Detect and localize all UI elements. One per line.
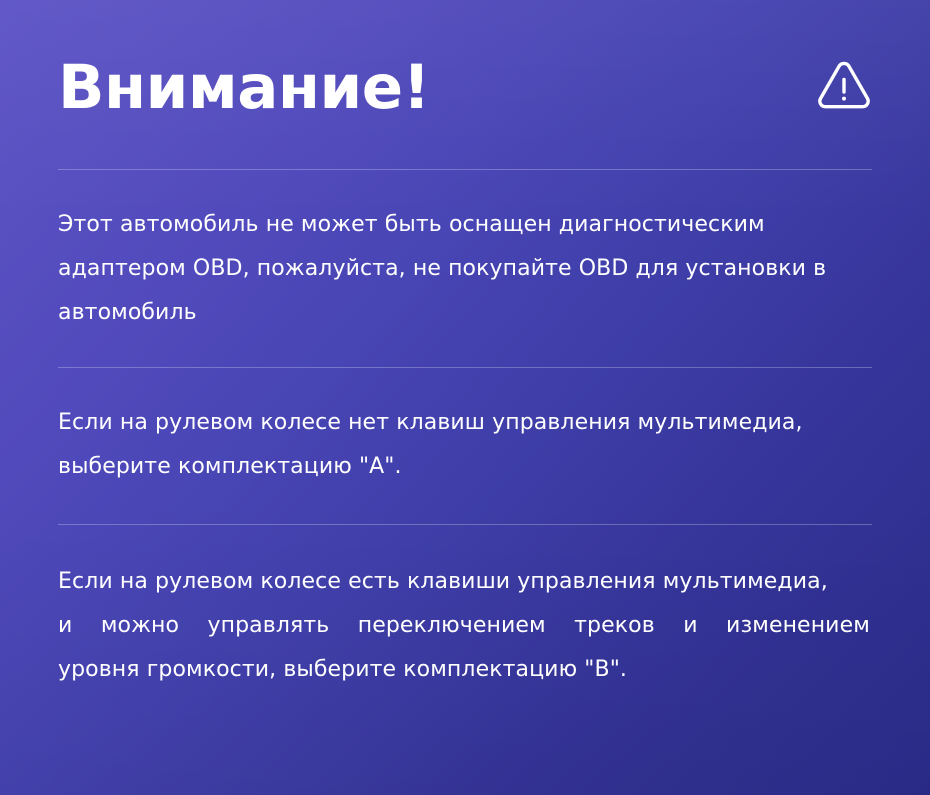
notice-line: Если на рулевом колесе есть клавиши упра…	[58, 560, 872, 604]
notice-word: изменением	[726, 604, 870, 648]
notice-word: переключением	[358, 604, 546, 648]
panel-header: Внимание!	[58, 0, 872, 169]
notice-line: уровня громкости, выберите комплектацию …	[58, 648, 872, 692]
notice-line-justified: и можно управлять переключением треков и…	[58, 604, 870, 648]
notice-word: можно	[101, 604, 179, 648]
notice-line: выберите комплектацию "A".	[58, 445, 872, 489]
notice-word: и	[683, 604, 697, 648]
notice-word: управлять	[208, 604, 330, 648]
notice-obd-adapter: Этот автомобиль не может быть оснащен ди…	[58, 170, 872, 367]
notice-line: автомобиль	[58, 291, 872, 335]
notice-line: Если на рулевом колесе нет клавиш управл…	[58, 401, 872, 445]
notice-word: треков	[574, 604, 655, 648]
page-title: Внимание!	[58, 51, 430, 118]
notice-trim-a: Если на рулевом колесе нет клавиш управл…	[58, 368, 872, 524]
notice-line: адаптером OBD, пожалуйста, не покупайте …	[58, 247, 872, 291]
warning-panel: Внимание! Этот автомобиль не может быть …	[0, 0, 930, 795]
notice-line: Этот автомобиль не может быть оснащен ди…	[58, 203, 872, 247]
notice-trim-b: Если на рулевом колесе есть клавиши упра…	[58, 525, 872, 692]
warning-triangle-icon	[816, 55, 872, 115]
notice-word: и	[58, 604, 72, 648]
